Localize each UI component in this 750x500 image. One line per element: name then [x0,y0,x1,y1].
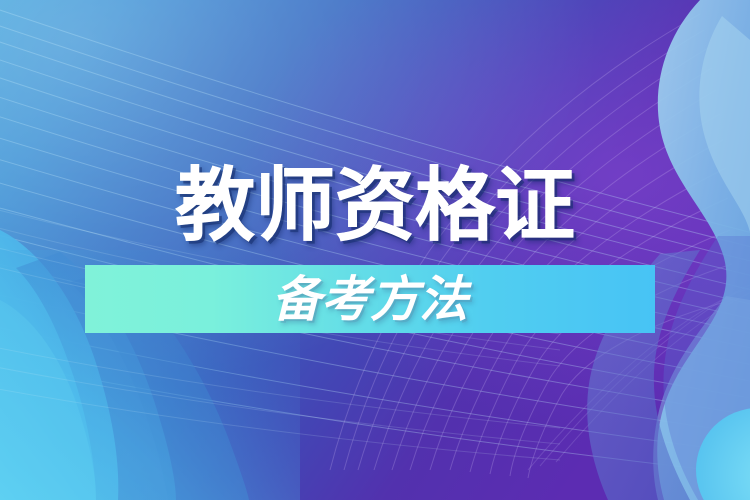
page-title: 教师资格证 [0,160,750,252]
promo-banner: 教师资格证 备考方法 [0,0,750,500]
subtitle-text: 备考方法 [85,265,655,333]
